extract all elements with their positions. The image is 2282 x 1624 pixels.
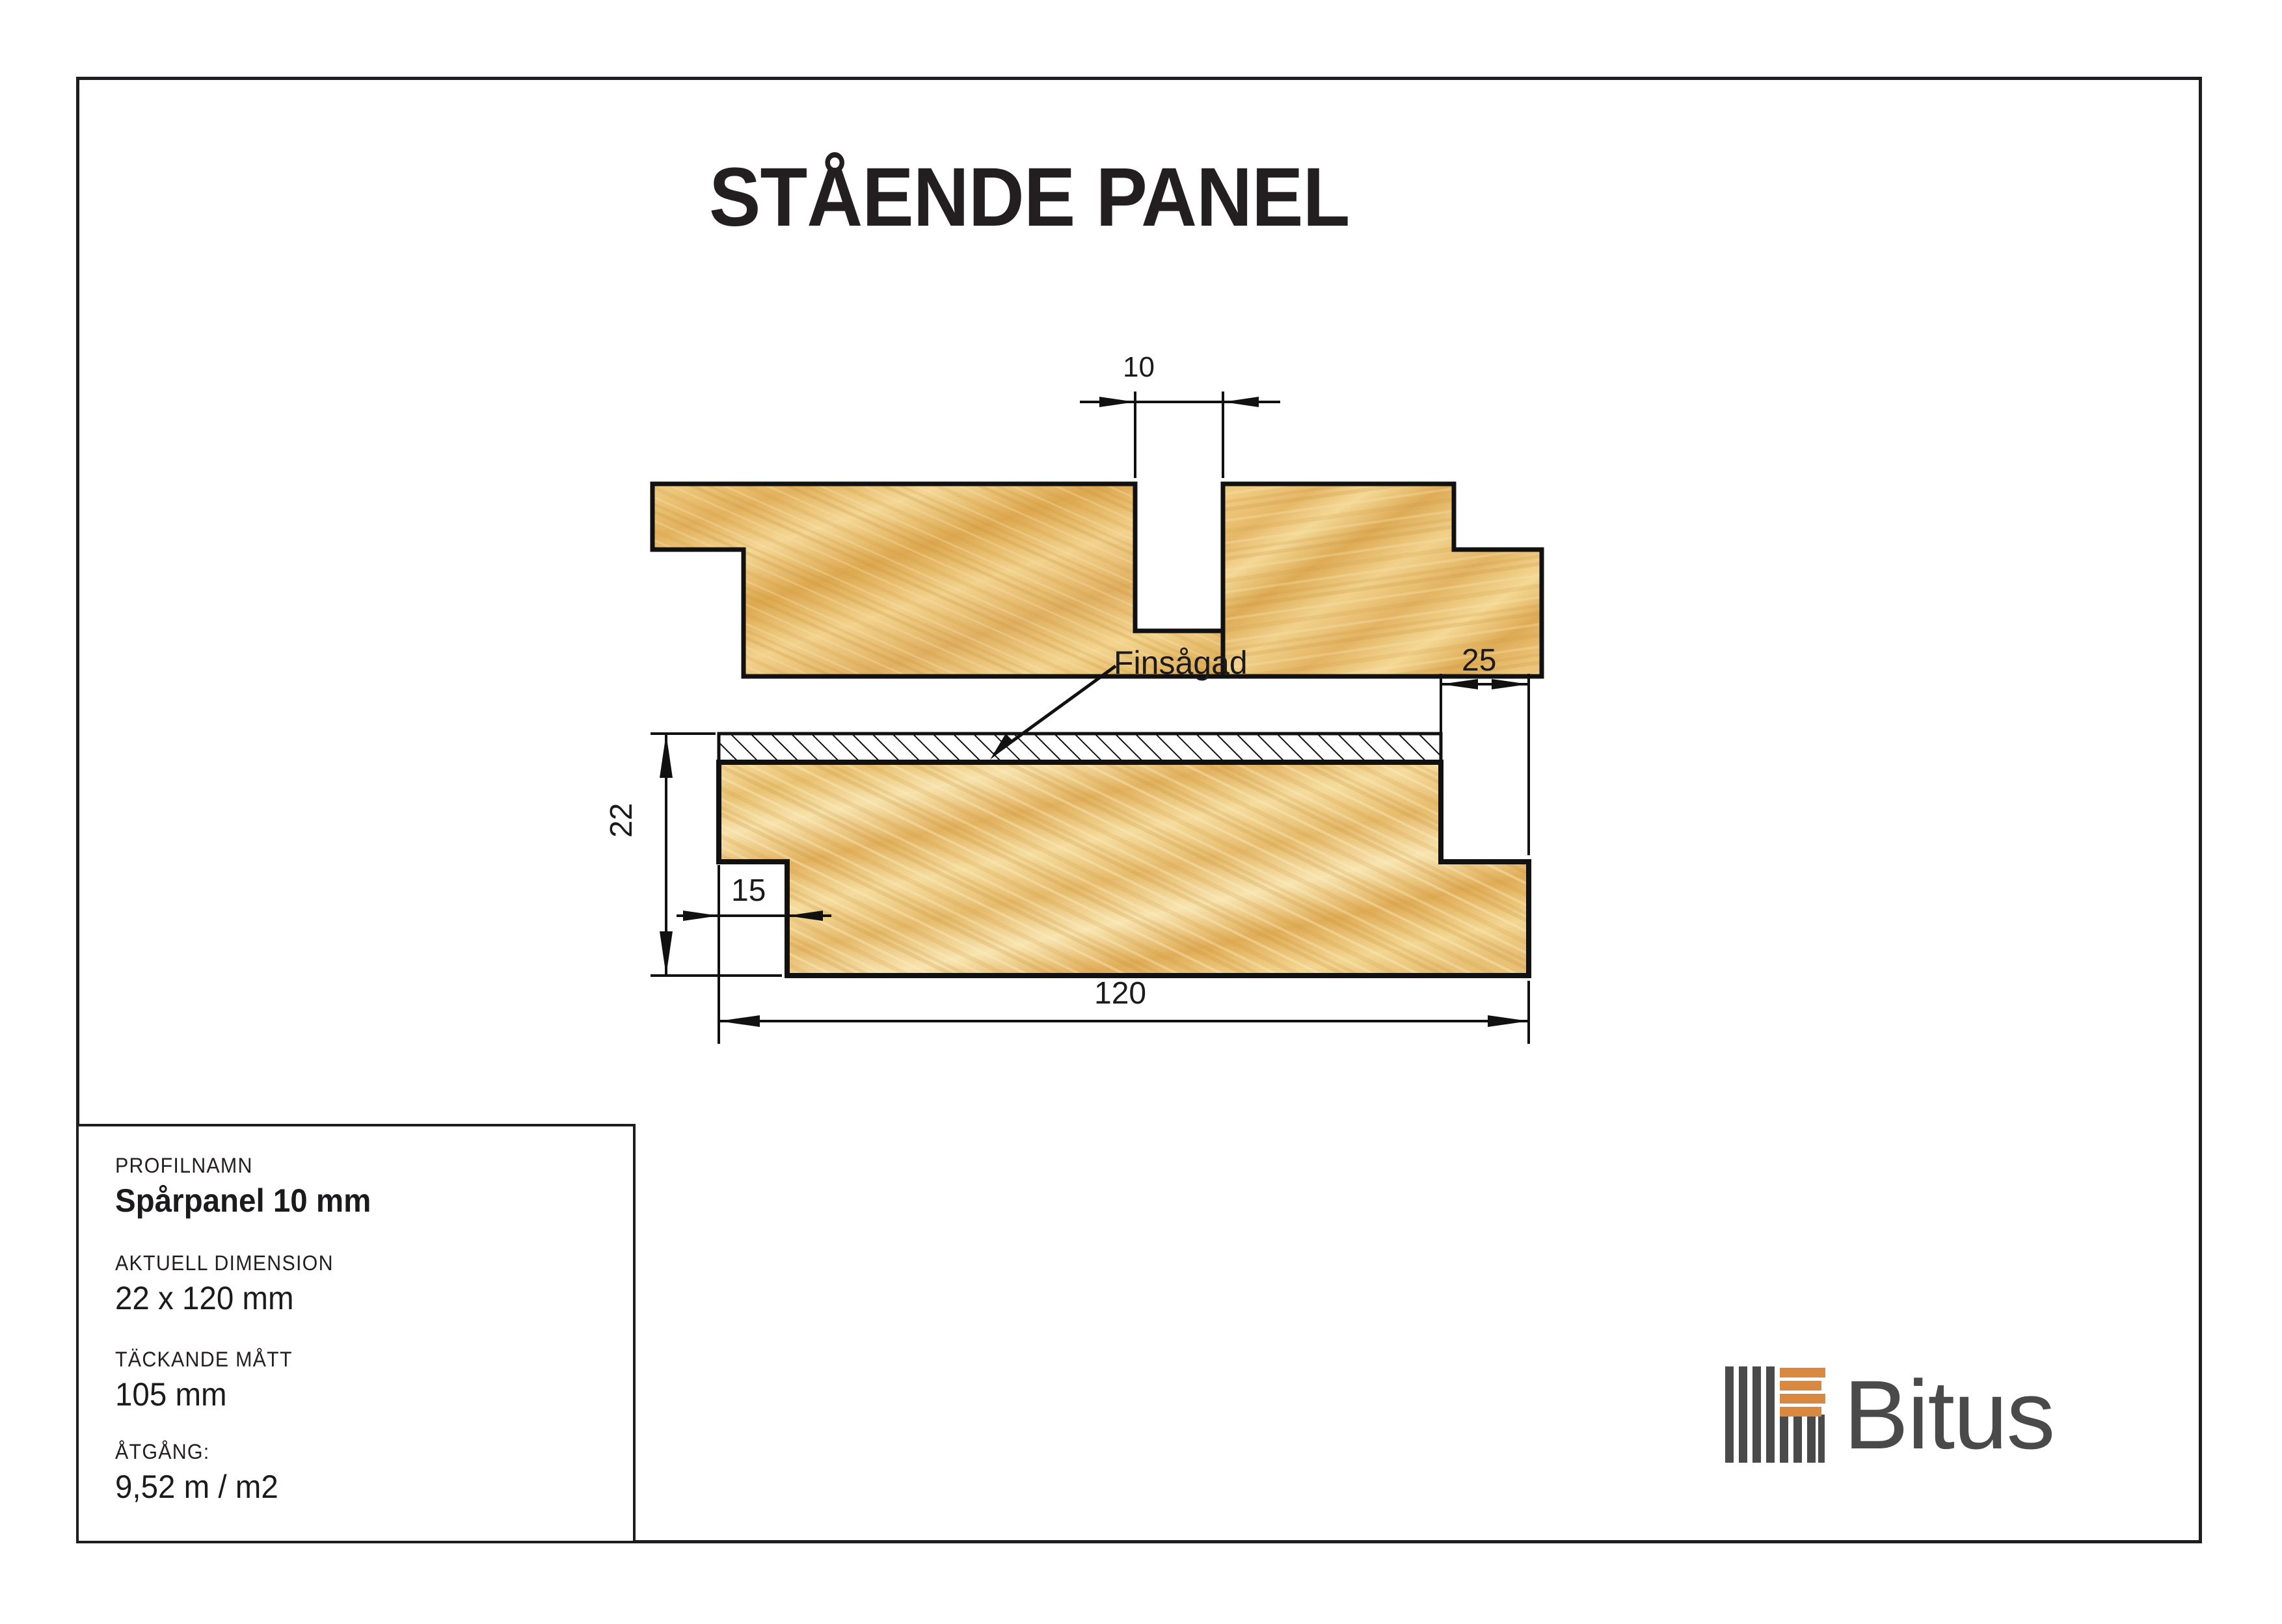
info-label-atgang: ÅTGÅNG: [115, 1440, 278, 1464]
page-title: STÅENDE PANEL [709, 150, 1349, 245]
dim-arrow-right-25 [1492, 679, 1529, 689]
dim-arrow-left-10 [1099, 397, 1135, 407]
profile-body [719, 762, 1529, 976]
dim-arrow-right-10 [1223, 397, 1259, 407]
dim-arrow-left-25 [1441, 679, 1478, 689]
dimension-label-15: 15 [731, 873, 766, 909]
bitus-logo-wordmark: Bitus [1844, 1366, 2054, 1463]
info-value-aktuell-dimension: 22 x 120 mm [115, 1279, 334, 1317]
info-row-profilnamn: PROFILNAMN Spårpanel 10 mm [115, 1154, 384, 1219]
bitus-logo: Bitus [1723, 1346, 2139, 1483]
dim-25-group [1441, 674, 1529, 855]
dim-arrow-right-120 [1488, 1015, 1529, 1027]
dim-arrow-left-120 [719, 1015, 760, 1027]
dimension-label-25: 25 [1462, 643, 1496, 678]
dimension-label-22: 22 [604, 803, 639, 838]
info-value-profilnamn: Spårpanel 10 mm [115, 1182, 371, 1219]
main-profile-drawing: Finsågad 22 15 25 120 [585, 650, 1691, 1067]
top-view-drawing: 10 [585, 351, 1821, 644]
profile-info-box: PROFILNAMN Spårpanel 10 mm AKTUELL DIMEN… [76, 1124, 636, 1543]
info-label-aktuell-dimension: AKTUELL DIMENSION [115, 1251, 334, 1275]
dim-arrow-up-22 [660, 734, 673, 778]
finsagad-hatched-band [719, 734, 1441, 762]
dimension-label-120: 120 [1094, 976, 1146, 1011]
info-value-atgang: 9,52 m / m2 [115, 1468, 278, 1506]
dim-arrow-left-15 [683, 911, 719, 921]
info-row-aktuell-dimension: AKTUELL DIMENSION 22 x 120 mm [115, 1251, 345, 1317]
info-label-tackande-matt: TÄCKANDE MÅTT [115, 1348, 293, 1372]
info-value-tackande-matt: 105 mm [115, 1376, 293, 1413]
bitus-logo-mark-icon [1723, 1366, 1827, 1463]
info-label-profilnamn: PROFILNAMN [115, 1154, 371, 1178]
dimension-label-10: 10 [1123, 351, 1155, 384]
info-row-atgang: ÅTGÅNG: 9,52 m / m2 [115, 1440, 287, 1506]
info-row-tackande-matt: TÄCKANDE MÅTT 105 mm [115, 1348, 302, 1413]
annotation-label-finsagad: Finsågad [1114, 644, 1248, 682]
dim-arrow-down-22 [660, 931, 673, 976]
